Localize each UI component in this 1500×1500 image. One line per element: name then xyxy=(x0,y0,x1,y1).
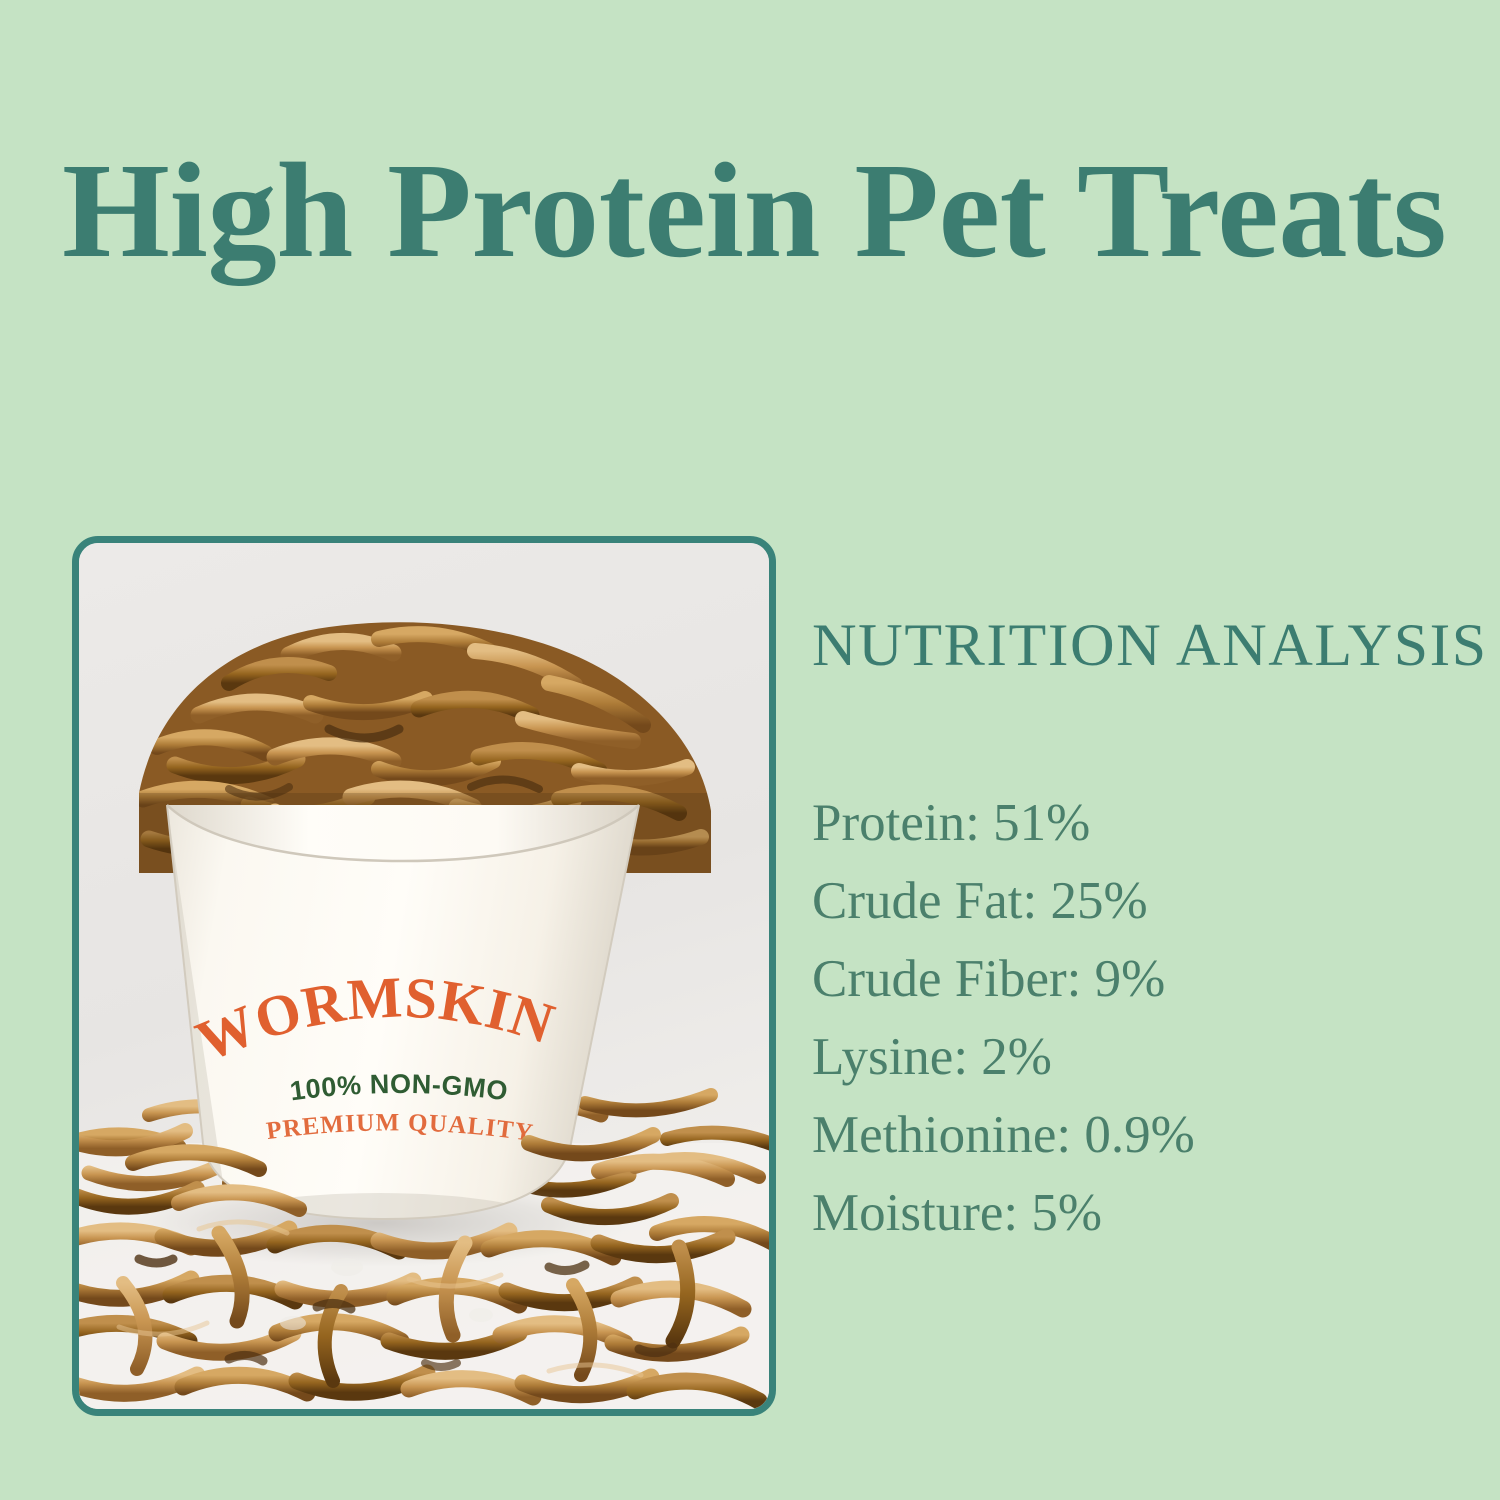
nutrition-item-methionine: Methionine: 0.9% xyxy=(812,1096,1472,1174)
nutrition-item-crude-fat: Crude Fat: 25% xyxy=(812,862,1472,940)
page-title: High Protein Pet Treats xyxy=(62,136,1490,286)
nutrition-item-moisture: Moisture: 5% xyxy=(812,1174,1472,1252)
nutrition-list: Protein: 51% Crude Fat: 25% Crude Fiber:… xyxy=(812,784,1472,1252)
nutrition-item-crude-fiber: Crude Fiber: 9% xyxy=(812,940,1472,1018)
product-photo-frame: WORMSKING 100% NON-GMO PREMIUM QUALITY xyxy=(72,536,776,1416)
nutrition-panel: NUTRITION ANALYSIS Protein: 51% Crude Fa… xyxy=(812,612,1472,1252)
nutrition-item-lysine: Lysine: 2% xyxy=(812,1018,1472,1096)
nutrition-heading: NUTRITION ANALYSIS xyxy=(812,612,1492,678)
nutrition-item-protein: Protein: 51% xyxy=(812,784,1472,862)
product-photo-image: WORMSKING 100% NON-GMO PREMIUM QUALITY xyxy=(79,543,769,1409)
